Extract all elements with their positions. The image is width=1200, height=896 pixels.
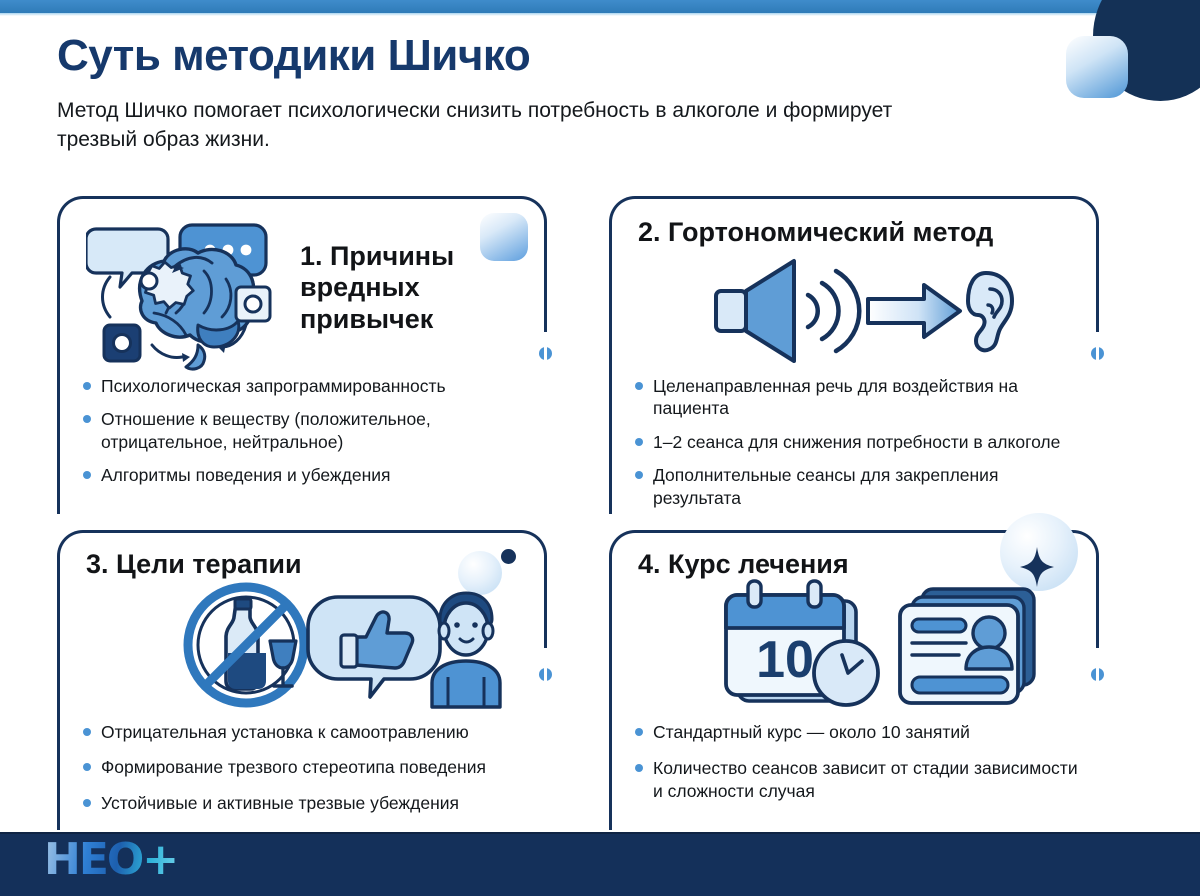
card-3-navy-dot-decoration <box>501 549 516 564</box>
page-subtitle: Метод Шичко помогает психологически сниз… <box>57 96 937 156</box>
card-3-title: 3. Цели терапии <box>86 549 302 580</box>
corner-square-decoration <box>1066 36 1128 98</box>
card-2-title: 2. Гортономический метод <box>638 217 993 248</box>
list-item: Алгоритмы поведения и убеждения <box>82 464 526 486</box>
calendar-day-number: 10 <box>756 631 814 689</box>
card-2-bullets: Целенаправленная речь для воздействия на… <box>634 375 1078 509</box>
no-alcohol-thumbsup-person-icon <box>178 581 508 709</box>
card-1-head: 1. Причины вредных привычек <box>60 199 544 371</box>
list-item: Дополнительные сеансы для закрепления ре… <box>634 464 1078 509</box>
card-1-edge-dot <box>539 347 552 360</box>
card-3-goals: 3. Цели терапии <box>57 530 547 830</box>
card-1-square-decoration <box>480 213 528 261</box>
list-item: Устойчивые и активные трезвые убеждения <box>82 792 526 814</box>
footer-divider <box>0 832 1200 834</box>
brand-logo: НЕО+ <box>44 838 177 882</box>
card-3-bullets: Отрицательная установка к самоотравлению… <box>82 721 526 814</box>
card-4-edge-dot <box>1091 668 1104 681</box>
list-item: Формирование трезвого стереотипа поведен… <box>82 756 526 778</box>
calendar-clock-cards-icon: 10 <box>704 577 1044 711</box>
list-item: Количество сеансов зависит от стадии зав… <box>634 757 1078 802</box>
list-item: Стандартный курс — около 10 занятий <box>634 721 1078 743</box>
card-2-method: 2. Гортономический метод <box>609 196 1099 514</box>
card-1-bullets: Психологическая запрограммированность От… <box>82 375 526 487</box>
cards-grid: 1. Причины вредных привычек Психологичес… <box>57 196 1149 830</box>
list-item: Отношение к веществу (положительное, отр… <box>82 408 526 453</box>
top-accent-bar <box>0 0 1200 13</box>
list-item: Целенаправленная речь для воздействия на… <box>634 375 1078 420</box>
card-4-title: 4. Курс лечения <box>638 549 849 580</box>
brain-gears-icon <box>86 221 286 371</box>
list-item: Психологическая запрограммированность <box>82 375 526 397</box>
top-bar-sheen <box>0 13 1200 16</box>
header: Суть методики Шичко Метод Шичко помогает… <box>57 32 1057 155</box>
card-4-course: 4. Курс лечения 10 <box>609 530 1099 830</box>
footer: НЕО+ <box>0 832 1200 896</box>
card-1-causes: 1. Причины вредных привычек Психологичес… <box>57 196 547 514</box>
speaker-arrow-ear-icon <box>708 255 1038 367</box>
list-item: Отрицательная установка к самоотравлению <box>82 721 526 743</box>
page-title: Суть методики Шичко <box>57 32 1057 80</box>
card-3-edge-dot <box>539 668 552 681</box>
list-item: 1–2 сеанса для снижения потребности в ал… <box>634 431 1078 453</box>
card-2-edge-dot <box>1091 347 1104 360</box>
card-2-head: 2. Гортономический метод <box>612 199 1096 248</box>
card-4-bullets: Стандартный курс — около 10 занятий Коли… <box>634 721 1078 802</box>
